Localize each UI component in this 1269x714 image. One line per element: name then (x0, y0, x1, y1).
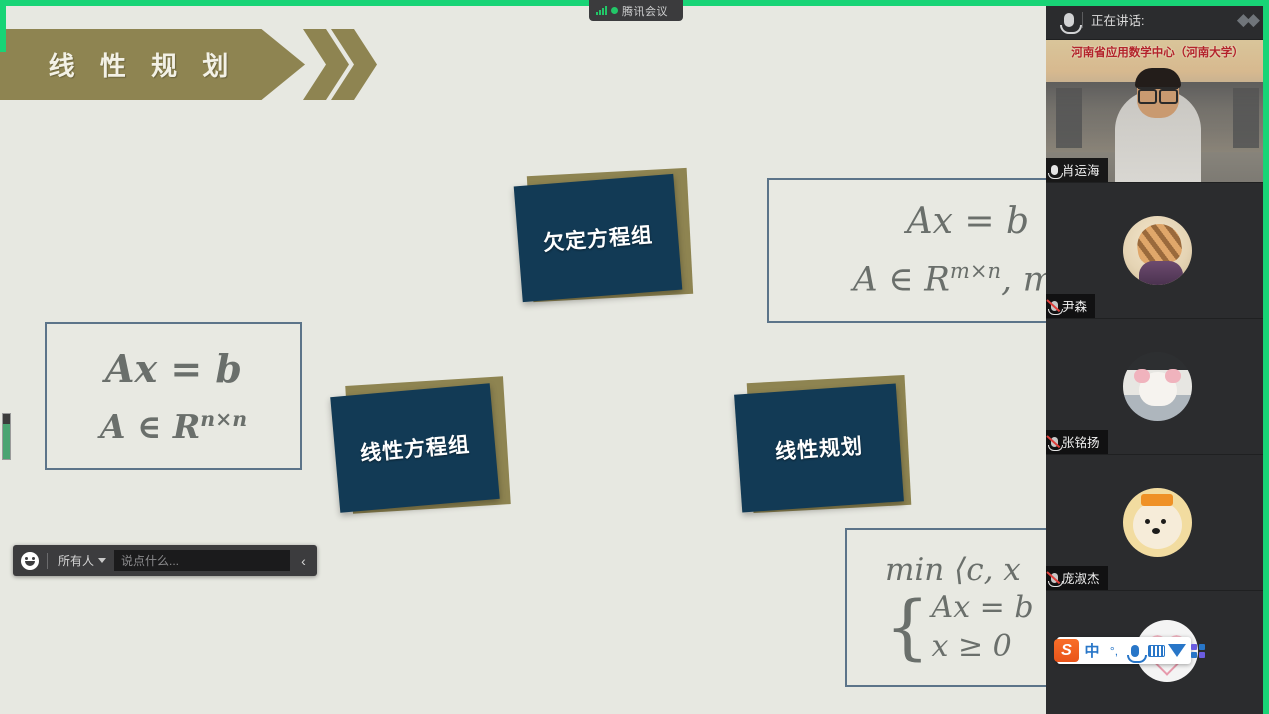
formula-left-line2-base: A ∈ R (100, 407, 200, 446)
card-face: 线性规划 (734, 383, 904, 512)
formula-box-linear-program: min ⟨c, x { Ax = b x ≥ 0 (845, 528, 1046, 687)
emoji-smile-icon[interactable] (13, 545, 47, 576)
slide-card-underdetermined: 欠定方程组 (518, 172, 690, 304)
green-dot-icon (611, 7, 618, 14)
screen-edge-marker[interactable] (2, 413, 11, 460)
ime-punctuation-button[interactable]: °, (1105, 640, 1123, 662)
participant-name-tag: 尹森 (1046, 294, 1095, 318)
chat-input[interactable] (114, 550, 290, 571)
formula-box-linear-system: Ax = b A ∈ Rn×n (45, 322, 302, 470)
microphone-muted-icon (1051, 573, 1058, 583)
microphone-icon (1064, 13, 1074, 27)
participant-tile-avatar[interactable]: 张铭扬 (1046, 319, 1269, 455)
participant-name: 庞淑杰 (1062, 568, 1100, 587)
soft-keyboard-icon[interactable] (1147, 640, 1165, 662)
collapse-panel-icon[interactable]: ◆◆ (1237, 10, 1257, 30)
participant-name-tag: 肖运海 (1046, 158, 1108, 182)
meeting-app-name: 腾讯会议 (622, 3, 668, 19)
slide-card-linear-system: 线性方程组 (335, 381, 507, 518)
card-label: 线性方程组 (359, 428, 471, 467)
participant-name: 张铭扬 (1062, 432, 1100, 451)
video-overlay-banner: 河南省应用数学中心（河南大学） (1046, 44, 1269, 60)
tiger-avatar (1123, 216, 1192, 285)
signal-bars-icon (596, 6, 607, 15)
shared-slide: 线 性 规 划 Ax = b A ∈ Rn×n Ax = b A ∈ Rm×n,… (0, 0, 1046, 714)
participant-name-tag: 庞淑杰 (1046, 566, 1108, 590)
participant-name: 肖运海 (1062, 160, 1100, 179)
slide-title-banner: 线 性 规 划 (0, 29, 305, 100)
formula-right-line2-tail: , m (1001, 260, 1046, 300)
chat-bar: 所有人 ‹ (13, 545, 317, 576)
left-brace-icon: { (885, 599, 930, 655)
formula-right-line2-sup: m×n (950, 258, 1001, 283)
formula-box-underdetermined: Ax = b A ∈ Rm×n, m (767, 178, 1046, 323)
formula-bottom-objective: min ⟨c, x (885, 552, 1021, 588)
glasses-icon (1138, 87, 1178, 98)
formula-right-line2-base: A ∈ R (853, 260, 950, 300)
chevron-down-icon (98, 558, 106, 563)
microphone-icon (1051, 165, 1058, 175)
formula-left-line2: A ∈ Rn×n (100, 407, 247, 446)
participant-name-tag: 张铭扬 (1046, 430, 1108, 454)
card-label: 欠定方程组 (542, 219, 654, 258)
chat-scope-dropdown[interactable]: 所有人 (48, 552, 114, 569)
card-label: 线性规划 (774, 430, 864, 466)
card-face: 线性方程组 (330, 383, 500, 513)
formula-left-line1: Ax = b (105, 346, 242, 391)
ime-language-mode-button[interactable]: 中 (1082, 640, 1102, 662)
formula-right-line1: Ax = b (907, 201, 1046, 242)
participant-tile-video[interactable]: 河南省应用数学中心（河南大学） 肖运海 (1046, 40, 1269, 183)
formula-left-line2-sup: n×n (200, 407, 247, 431)
participant-tile-avatar[interactable]: 尹森 (1046, 183, 1269, 319)
header-divider (1082, 12, 1083, 28)
sogou-ime-toolbar: S 中 °, (1057, 637, 1191, 664)
formula-bottom-constraint1: Ax = b (932, 590, 1034, 625)
slide-card-linear-programming: 线性规划 (738, 379, 910, 519)
formula-bottom-constraint2: x ≥ 0 (932, 629, 1034, 664)
video-person-hair (1135, 68, 1181, 88)
microphone-muted-icon (1051, 437, 1058, 447)
skin-icon[interactable] (1168, 640, 1186, 662)
bear-avatar (1123, 488, 1192, 557)
participant-name: 尹森 (1062, 296, 1087, 315)
bunny-avatar (1123, 352, 1192, 421)
formula-right-line2: A ∈ Rm×n, m (853, 258, 1046, 299)
chat-scope-label: 所有人 (58, 552, 94, 569)
screen: 线 性 规 划 Ax = b A ∈ Rn×n Ax = b A ∈ Rm×n,… (0, 0, 1269, 714)
toolbox-icon[interactable] (1189, 640, 1207, 662)
meeting-status-pill[interactable]: 腾讯会议 (589, 0, 683, 21)
card-face: 欠定方程组 (514, 174, 683, 302)
chevron-left-icon: ‹ (301, 553, 306, 569)
chat-collapse-button[interactable]: ‹ (290, 545, 317, 576)
participants-sidebar: 正在讲话: ◆◆ 河南省应用数学中心（河南大学） 肖运海 尹森 (1046, 0, 1269, 714)
participant-tile-avatar[interactable]: 庞淑杰 (1046, 455, 1269, 591)
voice-input-icon[interactable] (1126, 640, 1144, 662)
sogou-logo-icon[interactable]: S (1054, 639, 1079, 662)
sidebar-header: 正在讲话: ◆◆ (1046, 0, 1269, 40)
slide-title: 线 性 规 划 (40, 46, 260, 83)
speaking-now-label: 正在讲话: (1091, 10, 1144, 29)
formula-bottom-constraints: { Ax = b x ≥ 0 (885, 590, 1034, 664)
microphone-muted-icon (1051, 301, 1058, 311)
